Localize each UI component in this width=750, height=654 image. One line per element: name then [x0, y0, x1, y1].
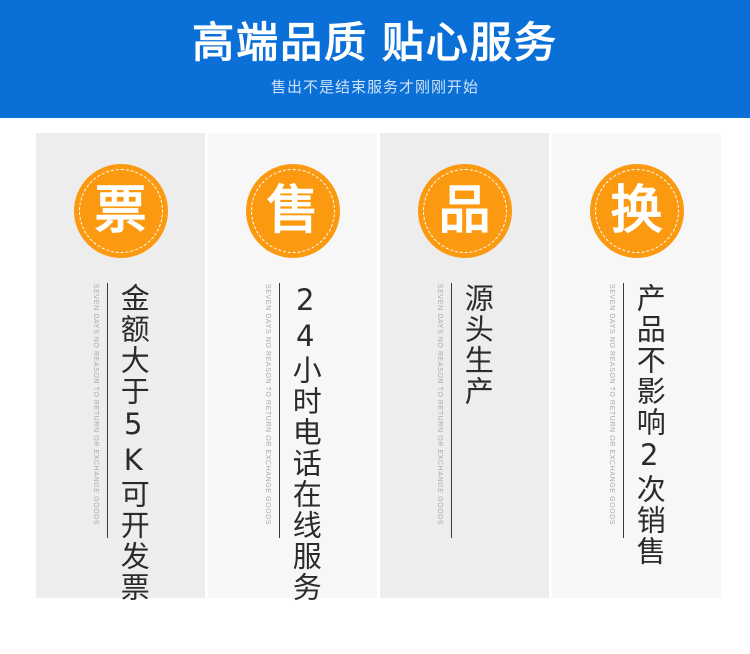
feature-panel-service[interactable]: 售 SEVEN DAYS NO REASON TO RETURN OR EXCH…: [208, 133, 377, 598]
feature-headline: 24小时电话在线服务: [289, 283, 321, 593]
page-subtitle: 售出不是结束服务才刚刚开始: [0, 68, 750, 97]
badge-char-label: 票: [94, 185, 146, 237]
feature-panel-invoice[interactable]: 票 SEVEN DAYS NO REASON TO RETURN OR EXCH…: [36, 133, 205, 598]
vertical-divider: [107, 283, 108, 538]
vertical-text-block: SEVEN DAYS NO REASON TO RETURN OR EXCHAN…: [380, 283, 549, 593]
feature-headline: 源头生产: [461, 283, 493, 593]
vertical-text-block: SEVEN DAYS NO REASON TO RETURN OR EXCHAN…: [36, 283, 205, 593]
vertical-text-block: SEVEN DAYS NO REASON TO RETURN OR EXCHAN…: [208, 283, 377, 593]
badge-circle-invoice: 票: [74, 164, 168, 258]
feature-panel-exchange[interactable]: 换 SEVEN DAYS NO REASON TO RETURN OR EXCH…: [552, 133, 721, 598]
feature-panel-list: 票 SEVEN DAYS NO REASON TO RETURN OR EXCH…: [0, 118, 750, 654]
english-caption: SEVEN DAYS NO REASON TO RETURN OR EXCHAN…: [264, 284, 271, 525]
english-caption: SEVEN DAYS NO REASON TO RETURN OR EXCHAN…: [436, 284, 443, 525]
badge-char-label: 售: [266, 185, 318, 237]
vertical-text-block: SEVEN DAYS NO REASON TO RETURN OR EXCHAN…: [552, 283, 721, 593]
vertical-divider: [623, 283, 624, 538]
badge-char-label: 品: [438, 185, 490, 237]
header-banner: 高端品质 贴心服务 售出不是结束服务才刚刚开始: [0, 0, 750, 118]
badge-circle-service: 售: [246, 164, 340, 258]
feature-headline: 产品不影响2次销售: [633, 283, 665, 593]
feature-headline: 金额大于5K可开发票: [117, 283, 149, 593]
vertical-divider: [279, 283, 280, 538]
vertical-divider: [451, 283, 452, 538]
badge-circle-exchange: 换: [590, 164, 684, 258]
english-caption: SEVEN DAYS NO REASON TO RETURN OR EXCHAN…: [608, 284, 615, 525]
feature-panel-quality[interactable]: 品 SEVEN DAYS NO REASON TO RETURN OR EXCH…: [380, 133, 549, 598]
english-caption: SEVEN DAYS NO REASON TO RETURN OR EXCHAN…: [92, 284, 99, 525]
page-title: 高端品质 贴心服务: [0, 0, 750, 68]
badge-char-label: 换: [610, 185, 662, 237]
badge-circle-quality: 品: [418, 164, 512, 258]
